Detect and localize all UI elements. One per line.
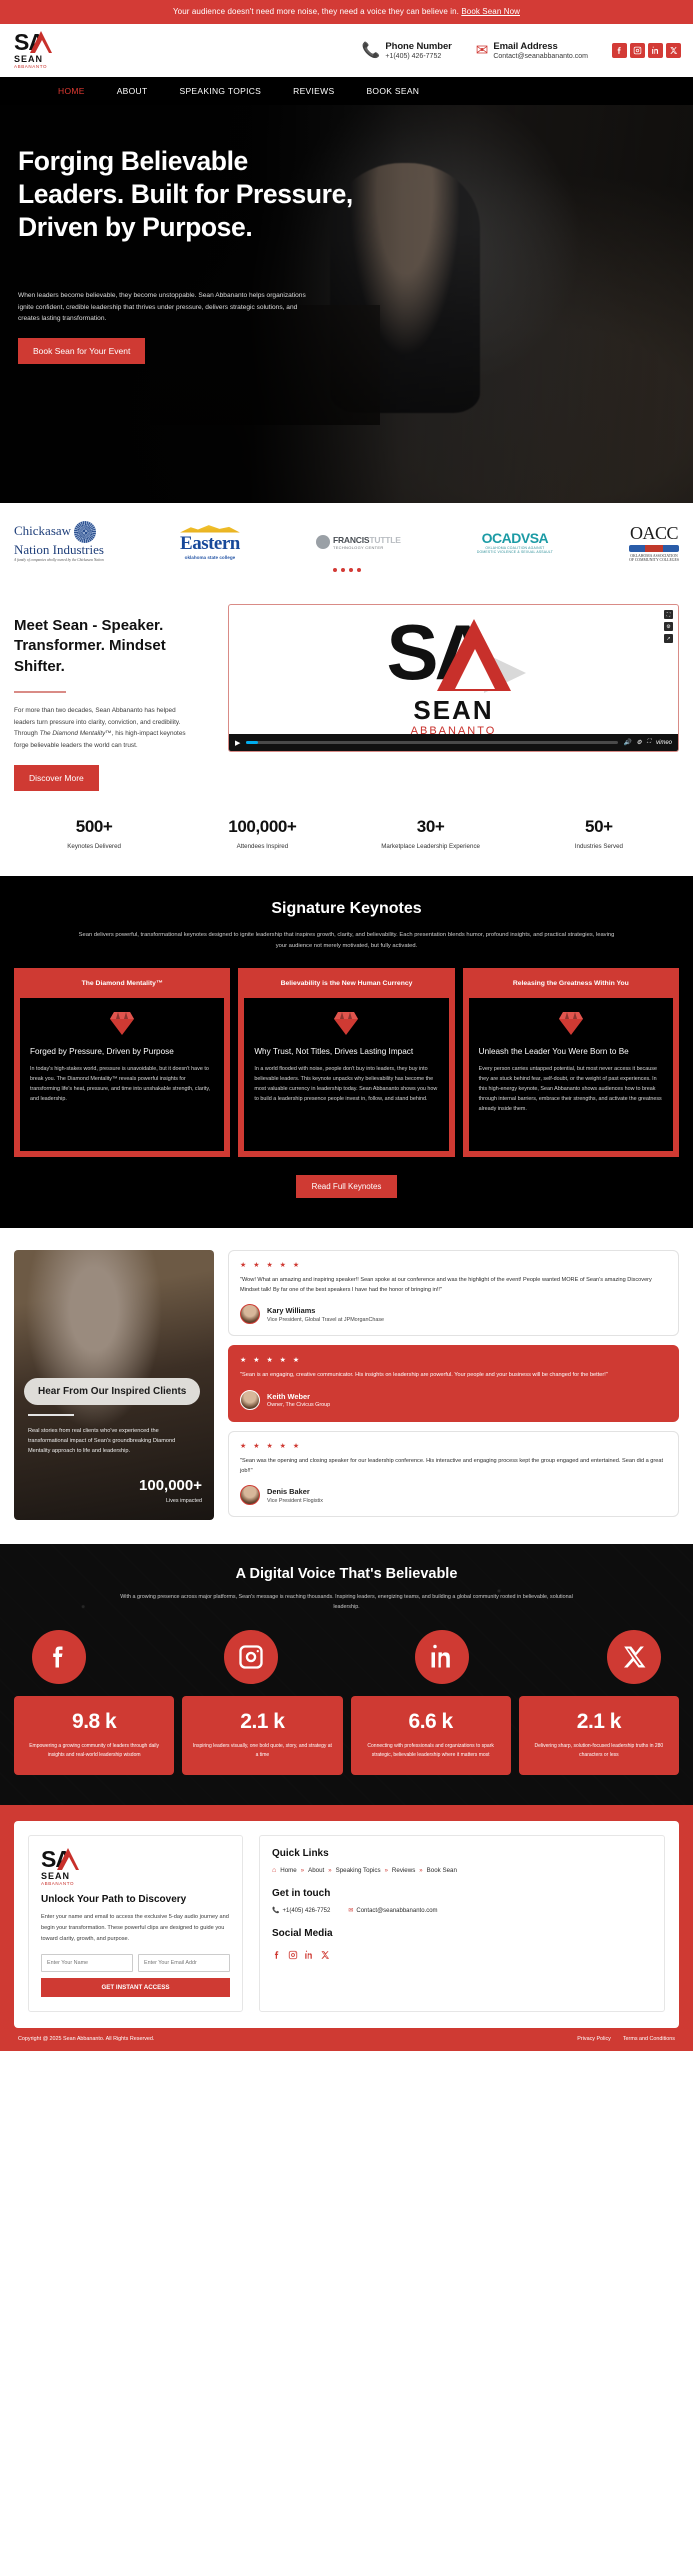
- eastern-line1: Eastern: [180, 533, 240, 555]
- terms-link[interactable]: Terms and Conditions: [623, 2036, 675, 2042]
- main-nav: HOME ABOUT SPEAKING TOPICS REVIEWS BOOK …: [0, 77, 693, 105]
- channel-count: 9.8 k: [24, 1710, 164, 1734]
- footer-phone[interactable]: 📞+1(405) 426-7752: [272, 1907, 330, 1914]
- testimonials-badge: Hear From Our Inspired Clients: [24, 1378, 200, 1405]
- keynote-card-body: Forged by Pressure, Driven by Purpose In…: [19, 997, 225, 1152]
- gear-icon[interactable]: ⚙: [636, 739, 641, 746]
- video-logo-triangle-inner-icon: [455, 649, 495, 689]
- stat-label: Industries Served: [515, 843, 683, 850]
- meet-sean-section: Meet Sean - Speaker. Transformer. Mindse…: [0, 582, 693, 801]
- diamond-icon: [110, 1010, 134, 1036]
- testimonial-author: Keith Weber Owner, The Civicus Group: [240, 1390, 667, 1410]
- footer-email[interactable]: ✉Contact@seanabbananto.com: [348, 1907, 437, 1914]
- link-separator: »: [301, 1868, 304, 1874]
- footer-logo-triangle-inner-icon: [62, 1857, 76, 1870]
- footer-links-panel: Quick Links ⌂ Home » About » Speaking To…: [259, 1835, 665, 2012]
- chickasaw-line3: A family of companies wholly owned by th…: [14, 559, 104, 563]
- channel-count: 6.6 k: [361, 1710, 501, 1734]
- nav-item-about[interactable]: ABOUT: [117, 86, 148, 96]
- volume-icon[interactable]: 🔊: [624, 739, 631, 746]
- site-footer: SA SEAN ABBANANTO Unlock Your Path to Di…: [0, 1805, 693, 2051]
- partner-logos-section: Chickasaw Nation Industries A family of …: [0, 503, 693, 582]
- digital-lead: With a growing presence across major pla…: [112, 1592, 582, 1612]
- social-channel-icons: [14, 1612, 679, 1684]
- hero-content: Forging Believable Leaders. Built for Pr…: [0, 105, 430, 364]
- video-controls-bar[interactable]: ▶ 🔊 ⚙ ⛶ vimeo: [229, 734, 678, 751]
- x-icon[interactable]: [607, 1630, 661, 1684]
- ft-line1: FRANCIS: [333, 535, 369, 545]
- x-icon[interactable]: [666, 43, 681, 58]
- stat-number: 50+: [515, 817, 683, 837]
- book-sean-button[interactable]: Book Sean for Your Event: [18, 338, 145, 364]
- meet-sean-heading: Meet Sean - Speaker. Transformer. Mindse…: [14, 616, 214, 677]
- rating-stars: ★ ★ ★ ★ ★: [240, 1442, 667, 1450]
- keynote-card-text: In a world flooded with noise, people do…: [254, 1064, 438, 1104]
- keynote-card-heading: Why Trust, Not Titles, Drives Lasting Im…: [254, 1046, 438, 1058]
- facebook-icon[interactable]: [32, 1630, 86, 1684]
- stat-number: 500+: [10, 817, 178, 837]
- eastern-mountain-icon: [180, 525, 240, 533]
- stat-attendees-inspired: 100,000+ Attendees Inspired: [178, 817, 346, 850]
- carousel-dot-1[interactable]: [333, 568, 337, 572]
- video-logo-name: SEAN: [413, 695, 493, 726]
- facebook-icon[interactable]: [612, 43, 627, 58]
- testimonial-card-keith-weber: ★ ★ ★ ★ ★ "Sean is an engaging, creative…: [228, 1345, 679, 1421]
- partner-logo-chickasaw: Chickasaw Nation Industries A family of …: [14, 525, 104, 559]
- phone-label: Phone Number: [385, 41, 451, 52]
- keynote-card-believability[interactable]: Believability is the New Human Currency …: [238, 968, 454, 1157]
- facebook-icon[interactable]: [272, 1947, 282, 1965]
- linkedin-icon[interactable]: [648, 43, 663, 58]
- keynote-cards: The Diamond Mentality™ Forged by Pressur…: [14, 968, 679, 1157]
- testimonial-card-denis-baker: ★ ★ ★ ★ ★ "Sean was the opening and clos…: [228, 1431, 679, 1518]
- hero-title: Forging Believable Leaders. Built for Pr…: [18, 145, 358, 244]
- get-in-touch-title: Get in touch: [272, 1888, 652, 1899]
- keynote-card-body: Unleash the Leader You Were Born to Be E…: [468, 997, 674, 1152]
- link-separator: »: [328, 1868, 331, 1874]
- video-progress-track[interactable]: [246, 741, 618, 744]
- phone-icon: 📞: [272, 1908, 279, 1914]
- carousel-dot-3[interactable]: [349, 568, 353, 572]
- footer-phone-value: +1(405) 426-7752: [282, 1908, 330, 1914]
- home-icon: ⌂: [272, 1867, 276, 1874]
- carousel-dot-4[interactable]: [357, 568, 361, 572]
- footer-link-speaking-topics[interactable]: Speaking Topics: [336, 1867, 381, 1874]
- testimonials-description: Real stories from real clients who've ex…: [28, 1426, 196, 1456]
- social-media-title: Social Media: [272, 1928, 652, 1939]
- testimonial-quote: "Sean was the opening and closing speake…: [240, 1456, 667, 1477]
- testimonial-name: Denis Baker: [267, 1487, 323, 1496]
- partner-logo-eastern: Eastern oklahoma state college: [180, 525, 240, 559]
- channel-desc: Connecting with professionals and organi…: [361, 1742, 501, 1760]
- newsletter-signup: SA SEAN ABBANANTO Unlock Your Path to Di…: [28, 1835, 243, 2012]
- channel-desc: Empowering a growing community of leader…: [24, 1742, 164, 1760]
- nav-item-reviews[interactable]: REVIEWS: [293, 86, 334, 96]
- rating-stars: ★ ★ ★ ★ ★: [240, 1261, 667, 1269]
- page-root: Your audience doesn't need more noise, t…: [0, 0, 693, 2051]
- promo-video-player[interactable]: SA SEAN ABBANANTO ⛶ ⚙ ↗ 03:39 ▶: [228, 604, 679, 752]
- channel-stat-linkedin: 6.6 k Connecting with professionals and …: [351, 1696, 511, 1776]
- instagram-icon[interactable]: [288, 1947, 298, 1965]
- keynote-card-text: Every person carries untapped potential,…: [479, 1064, 663, 1114]
- nav-item-book-sean[interactable]: BOOK SEAN: [366, 86, 419, 96]
- chickasaw-line1: Chickasaw: [14, 523, 71, 538]
- copyright-text: Copyright @ 2025 Sean Abbananto. All Rig…: [18, 2036, 154, 2042]
- footer-logo-sub: ABBANANTO: [41, 1881, 74, 1886]
- keynote-card-heading: Unleash the Leader You Were Born to Be: [479, 1046, 663, 1058]
- channel-stat-instagram: 2.1 k Inspiring leaders visually, one bo…: [182, 1696, 342, 1776]
- chickasaw-line2: Nation Industries: [14, 543, 104, 557]
- video-share-icon[interactable]: ↗: [664, 634, 673, 643]
- footer-logo-name: SEAN: [41, 1871, 70, 1881]
- oacc-line1: OACC: [629, 523, 679, 544]
- video-fullscreen-icon[interactable]: ⛶: [664, 610, 673, 619]
- fullscreen-icon[interactable]: ⛶: [647, 739, 651, 746]
- avatar: [240, 1304, 260, 1324]
- logo-mark-icon: SA: [14, 31, 60, 53]
- stat-label: Attendees Inspired: [178, 843, 346, 850]
- testimonial-quote: "Sean is an engaging, creative communica…: [240, 1370, 667, 1380]
- meet-paragraph-emphasis: The Diamond Mentality™: [40, 730, 112, 737]
- channel-desc: Inspiring leaders visually, one bold quo…: [192, 1742, 332, 1760]
- keynote-card-heading: Forged by Pressure, Driven by Purpose: [30, 1046, 214, 1058]
- footer-link-about[interactable]: About: [308, 1867, 324, 1874]
- meet-sean-paragraph: For more than two decades, Sean Abbanant…: [14, 705, 194, 752]
- avatar: [240, 1485, 260, 1505]
- digital-voice-section: A Digital Voice That's Believable With a…: [0, 1544, 693, 1806]
- channel-count: 2.1 k: [192, 1710, 332, 1734]
- footer-panel: SA SEAN ABBANANTO Unlock Your Path to Di…: [14, 1821, 679, 2028]
- keynotes-cta-wrap: Read Full Keynotes: [14, 1175, 679, 1198]
- footer-bottom-bar: Copyright @ 2025 Sean Abbananto. All Rig…: [14, 2028, 679, 2051]
- testimonial-role: Vice President, Global Travel at JPMorga…: [267, 1317, 384, 1323]
- x-icon[interactable]: [320, 1947, 330, 1965]
- phone-value: +1(405) 426-7752: [385, 53, 451, 60]
- ft-line2: TUTTLE: [369, 535, 400, 545]
- announcement-link[interactable]: Book Sean Now: [461, 7, 520, 16]
- link-separator: »: [419, 1868, 422, 1874]
- name-input[interactable]: [41, 1954, 133, 1972]
- stat-marketplace-experience: 30+ Marketplace Leadership Experience: [347, 817, 515, 850]
- logo-name: SEAN: [14, 54, 43, 64]
- testimonials-section: Hear From Our Inspired Clients Real stor…: [0, 1228, 693, 1544]
- testimonials-divider: [28, 1414, 74, 1416]
- keynote-card-tab: The Diamond Mentality™: [19, 973, 225, 997]
- lives-impacted-count: 100,000+: [139, 1477, 202, 1494]
- stat-label: Marketplace Leadership Experience: [347, 843, 515, 850]
- lives-impacted-label: Lives impacted: [166, 1498, 202, 1504]
- meet-sean-text: Meet Sean - Speaker. Transformer. Mindse…: [14, 604, 214, 791]
- video-side-controls[interactable]: ⛶ ⚙ ↗: [664, 610, 673, 643]
- site-logo[interactable]: SA SEAN ABBANANTO: [14, 31, 66, 69]
- footer-link-book-sean[interactable]: Book Sean: [427, 1867, 457, 1874]
- testimonial-quote: "Wow! What an amazing and inspiring spea…: [240, 1275, 667, 1296]
- signature-keynotes-section: Signature Keynotes Sean delivers powerfu…: [0, 876, 693, 1228]
- email-value: Contact@seanabbananto.com: [493, 53, 588, 60]
- newsletter-title: Unlock Your Path to Discovery: [41, 1894, 230, 1905]
- partner-logo-row: Chickasaw Nation Industries A family of …: [14, 525, 679, 559]
- eastern-line2: oklahoma state college: [180, 555, 240, 560]
- link-separator: »: [385, 1868, 388, 1874]
- footer-logo[interactable]: SA SEAN ABBANANTO: [41, 1848, 230, 1886]
- keynote-card-tab: Believability is the New Human Currency: [243, 973, 449, 997]
- ocadvsa-line1: OCADVSA: [477, 530, 553, 546]
- social-channel-stats: 9.8 k Empowering a growing community of …: [14, 1696, 679, 1776]
- partner-logo-francis-tuttle: FRANCISTUTTLE TECHNOLOGY CENTER: [316, 525, 401, 559]
- top-contact-bar: SA SEAN ABBANANTO 📞 Phone Number +1(405)…: [0, 24, 693, 77]
- partner-logo-oacc: OACC OKLAHOMA ASSOCIATION OF COMMUNITY C…: [629, 525, 679, 559]
- footer-email-value: Contact@seanabbananto.com: [356, 1908, 437, 1914]
- diamond-icon: [334, 1010, 358, 1036]
- quick-links-title: Quick Links: [272, 1848, 652, 1859]
- stats-section: 500+ Keynotes Delivered 100,000+ Attende…: [0, 801, 693, 876]
- vimeo-logo-icon[interactable]: vimeo: [656, 740, 672, 746]
- keynotes-lead: Sean delivers powerful, transformational…: [77, 930, 617, 951]
- announcement-bar: Your audience doesn't need more noise, t…: [0, 0, 693, 24]
- keynote-card-body: Why Trust, Not Titles, Drives Lasting Im…: [243, 997, 449, 1152]
- email-text: Email Address Contact@seanabbananto.com: [493, 41, 588, 60]
- stat-number: 100,000+: [178, 817, 346, 837]
- avatar: [240, 1390, 260, 1410]
- video-play-icon[interactable]: ▶: [235, 739, 240, 747]
- stat-label: Keynotes Delivered: [10, 843, 178, 850]
- video-logo-mark-icon: SA: [379, 619, 529, 693]
- digital-title: A Digital Voice That's Believable: [14, 1566, 679, 1582]
- diamond-icon: [559, 1010, 583, 1036]
- testimonial-role: Owner, The Civicus Group: [267, 1402, 330, 1408]
- footer-link-reviews[interactable]: Reviews: [392, 1867, 415, 1874]
- read-full-keynotes-button[interactable]: Read Full Keynotes: [296, 1175, 398, 1198]
- privacy-policy-link[interactable]: Privacy Policy: [577, 2036, 611, 2042]
- phone-contact[interactable]: 📞 Phone Number +1(405) 426-7752: [362, 41, 452, 60]
- channel-desc: Delivering sharp, solution-focused leade…: [529, 1742, 669, 1760]
- video-time: 03:39: [253, 727, 264, 732]
- channel-stat-facebook: 9.8 k Empowering a growing community of …: [14, 1696, 174, 1776]
- keynote-card-tab: Releasing the Greatness Within You: [468, 973, 674, 997]
- testimonial-name: Kary Williams: [267, 1306, 384, 1315]
- meet-sean-video-wrap: SA SEAN ABBANANTO ⛶ ⚙ ↗ 03:39 ▶: [228, 604, 679, 791]
- nav-item-speaking-topics[interactable]: SPEAKING TOPICS: [179, 86, 261, 96]
- chickasaw-seal-icon: [74, 521, 96, 543]
- email-icon: ✉: [476, 43, 489, 58]
- testimonial-author: Denis Baker Vice President Flogistix: [240, 1485, 667, 1505]
- logo-subtitle: ABBANANTO: [14, 64, 47, 69]
- channel-count: 2.1 k: [529, 1710, 669, 1734]
- carousel-dot-2[interactable]: [341, 568, 345, 572]
- keynote-card-greatness-within[interactable]: Releasing the Greatness Within You Unlea…: [463, 968, 679, 1157]
- linkedin-icon[interactable]: [415, 1630, 469, 1684]
- logo-triangle-inner-icon: [35, 40, 49, 53]
- testimonial-name: Keith Weber: [267, 1392, 330, 1401]
- stat-industries-served: 50+ Industries Served: [515, 817, 683, 850]
- video-progress-fill: [246, 741, 257, 744]
- footer-socials: [272, 1947, 652, 1965]
- instagram-icon[interactable]: [224, 1630, 278, 1684]
- newsletter-text: Enter your name and email to access the …: [41, 1912, 230, 1944]
- hero-paragraph: When leaders become believable, they bec…: [18, 290, 318, 325]
- hero-section: Forging Believable Leaders. Built for Pr…: [0, 105, 693, 503]
- email-label: Email Address: [493, 41, 588, 52]
- heading-divider: [14, 691, 66, 693]
- rating-stars: ★ ★ ★ ★ ★: [240, 1356, 667, 1364]
- ft-line3: TECHNOLOGY CENTER: [333, 545, 401, 550]
- video-right-icons[interactable]: 🔊 ⚙ ⛶ vimeo: [624, 739, 672, 746]
- partner-logo-ocadvsa: OCADVSA OKLAHOMA COALITION AGAINST DOMES…: [477, 525, 553, 559]
- nav-item-home[interactable]: HOME: [58, 86, 85, 96]
- testimonial-role: Vice President Flogistix: [267, 1498, 323, 1504]
- video-poster-logo: SA SEAN ABBANANTO: [229, 605, 678, 751]
- channel-stat-x: 2.1 k Delivering sharp, solution-focused…: [519, 1696, 679, 1776]
- footer-link-home[interactable]: Home: [280, 1867, 297, 1874]
- newsletter-inputs: [41, 1954, 230, 1972]
- email-icon: ✉: [348, 1908, 353, 1914]
- carousel-dots[interactable]: [14, 559, 679, 576]
- francis-tuttle-mark-icon: [316, 535, 330, 549]
- footer-logo-mark-icon: SA: [41, 1848, 87, 1870]
- testimonial-card-kary-williams: ★ ★ ★ ★ ★ "Wow! What an amazing and insp…: [228, 1250, 679, 1337]
- keynote-card-text: In today's high-stakes world, pressure i…: [30, 1064, 214, 1104]
- keynotes-title: Signature Keynotes: [14, 900, 679, 918]
- oacc-line3: OF COMMUNITY COLLEGES: [629, 558, 679, 562]
- ocadvsa-line3: DOMESTIC VIOLENCE & SEXUAL ASSAULT: [477, 550, 553, 554]
- testimonials-photo-panel: Hear From Our Inspired Clients Real stor…: [14, 1250, 214, 1520]
- email-contact[interactable]: ✉ Email Address Contact@seanabbananto.co…: [476, 41, 588, 60]
- stat-number: 30+: [347, 817, 515, 837]
- phone-text: Phone Number +1(405) 426-7752: [385, 41, 451, 60]
- linkedin-icon[interactable]: [304, 1947, 314, 1965]
- get-instant-access-button[interactable]: GET INSTANT ACCESS: [41, 1978, 230, 1997]
- testimonial-author: Kary Williams Vice President, Global Tra…: [240, 1304, 667, 1324]
- quick-links: ⌂ Home » About » Speaking Topics » Revie…: [272, 1867, 652, 1874]
- footer-contacts: 📞+1(405) 426-7752 ✉Contact@seanabbananto…: [272, 1907, 652, 1914]
- stat-keynotes-delivered: 500+ Keynotes Delivered: [10, 817, 178, 850]
- instagram-icon[interactable]: [630, 43, 645, 58]
- oacc-swoosh-icon: [629, 545, 679, 552]
- phone-icon: 📞: [362, 43, 381, 58]
- keynote-card-diamond-mentality[interactable]: The Diamond Mentality™ Forged by Pressur…: [14, 968, 230, 1157]
- discover-more-button[interactable]: Discover More: [14, 765, 99, 791]
- social-links: [612, 43, 681, 58]
- oacc-line2: OKLAHOMA ASSOCIATION: [629, 554, 679, 558]
- video-settings-icon[interactable]: ⚙: [664, 622, 673, 631]
- email-input[interactable]: [138, 1954, 230, 1972]
- testimonial-cards: ★ ★ ★ ★ ★ "Wow! What an amazing and insp…: [228, 1250, 679, 1520]
- announcement-text: Your audience doesn't need more noise, t…: [173, 7, 461, 16]
